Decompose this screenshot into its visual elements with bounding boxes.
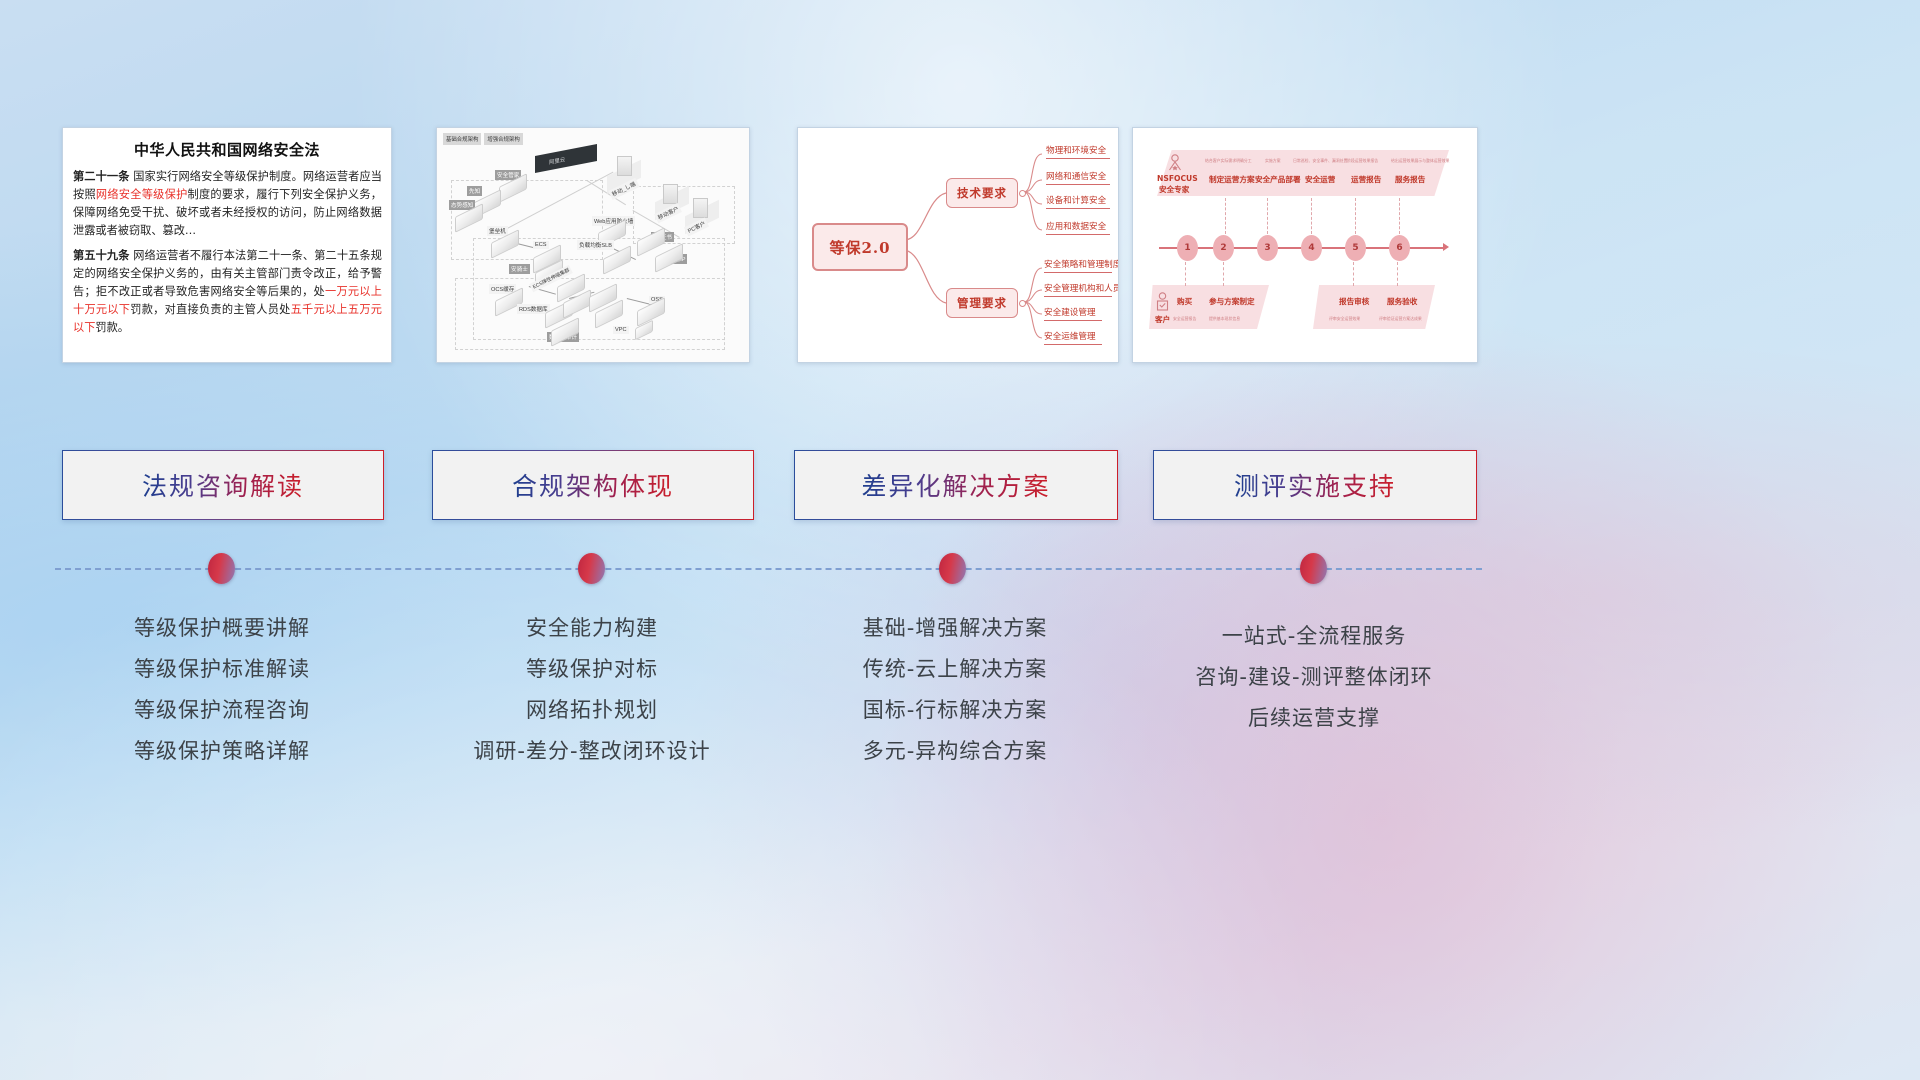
mindmap-diagram: 等保2.0 技术要求 物理和环境安全 网络和通信安全 设备和计算安全 应用和数据… xyxy=(798,128,1118,362)
mindmap-leaf: 安全运维管理 xyxy=(1044,330,1102,345)
law-body: 第二十一条 国家实行网络安全等级保护制度。网络运营者应当按照网络安全等级保护制度… xyxy=(63,168,391,337)
mindmap-leaf: 安全策略和管理制度 xyxy=(1044,258,1112,273)
law-article-21-highlight: 网络安全等级保护 xyxy=(96,188,188,201)
bullet-item: 传统-云上解决方案 xyxy=(794,649,1116,690)
tag-enhanced-architecture: 增强合规架构 xyxy=(484,133,522,145)
timeline-band-vendor xyxy=(1157,150,1449,196)
timeline-marker[interactable]: 6 xyxy=(1389,235,1410,261)
law-article-59-text-c: 罚款。 xyxy=(95,321,129,334)
law-article-59-number: 第五十九条 xyxy=(73,249,130,262)
law-article-59: 第五十九条 网络运营者不履行本法第二十一条、第二十五条规定的网络安全保护义务的，… xyxy=(73,247,382,338)
top-step-sub: 实施方案 xyxy=(1265,158,1281,164)
mindmap-branch-management: 管理要求 xyxy=(946,288,1018,318)
bottom-step-name: 报告审核 xyxy=(1339,296,1369,307)
bullet-item: 等级保护策略详解 xyxy=(62,731,382,772)
top-step-name: 制定运营方案 xyxy=(1209,174,1255,185)
bullet-column-1: 等级保护概要讲解 等级保护标准解读 等级保护流程咨询 等级保护策略详解 xyxy=(62,608,382,772)
section-label-4: 测评实施支持 xyxy=(1234,467,1396,503)
bottom-step-sub: 安全运营报告 xyxy=(1173,316,1196,322)
card-service-timeline: NSFOCUS 安全专家 结合客户实际需求明确分工 制定运营方案 实施方案 安全… xyxy=(1132,127,1478,363)
bullet-item: 调研-差分-整改闭环设计 xyxy=(432,731,752,772)
top-step-name: 安全产品部署 xyxy=(1255,174,1301,185)
node-label: 负载均衡SLB xyxy=(577,240,614,250)
mindmap-leaf: 安全管理机构和人员 xyxy=(1044,282,1112,297)
node-label: ECS xyxy=(533,241,549,249)
mindmap-collapse-dot[interactable] xyxy=(1019,300,1026,307)
timeline-marker[interactable]: 3 xyxy=(1257,235,1278,261)
bullet-item: 基础-增强解决方案 xyxy=(794,608,1116,649)
bottom-step-sub: 提供基本现状信息 xyxy=(1209,316,1240,322)
bullet-item: 多元-异构综合方案 xyxy=(794,731,1116,772)
customer-person-icon xyxy=(1155,292,1170,314)
law-article-21-number: 第二十一条 xyxy=(73,170,130,183)
mindmap-leaf: 物理和环境安全 xyxy=(1046,144,1110,159)
architecture-tag-bar: 基础合规架构 增强合规架构 xyxy=(443,133,523,145)
section-label-box-1[interactable]: 法规咨询解读 xyxy=(62,450,384,520)
bullet-column-4: 一站式-全流程服务 咨询-建设-测评整体闭环 后续运营支撑 xyxy=(1153,616,1475,739)
top-step-sub: 给出运营效果展示与整体运营效果 xyxy=(1391,158,1449,164)
mindmap-root: 等保2.0 xyxy=(812,223,908,271)
timeline-connector xyxy=(1185,262,1186,286)
timeline-diagram: NSFOCUS 安全专家 结合客户实际需求明确分工 制定运营方案 实施方案 安全… xyxy=(1133,128,1477,362)
card-dengbao-mindmap: 等保2.0 技术要求 物理和环境安全 网络和通信安全 设备和计算安全 应用和数据… xyxy=(797,127,1119,363)
tag-basic-architecture: 基础合规架构 xyxy=(443,133,481,145)
mindmap-branch-technical: 技术要求 xyxy=(946,178,1018,208)
timeline-connector xyxy=(1225,198,1226,234)
bullet-item: 等级保护概要讲解 xyxy=(62,608,382,649)
timeline-connector xyxy=(1267,198,1268,234)
timeline-connector xyxy=(1355,198,1356,234)
section-label-1: 法规咨询解读 xyxy=(142,467,304,503)
node-label: 安骑士 xyxy=(509,264,530,274)
bottom-step-name: 购买 xyxy=(1177,296,1192,307)
node-label: VPC xyxy=(613,326,629,334)
timeline-marker[interactable]: 4 xyxy=(1301,235,1322,261)
bottom-step-name: 服务验收 xyxy=(1387,296,1417,307)
customer-role: 客户 xyxy=(1155,314,1170,325)
timeline-connector xyxy=(1223,262,1224,286)
section-label-box-3[interactable]: 差异化解决方案 xyxy=(794,450,1118,520)
timeline-marker[interactable]: 5 xyxy=(1345,235,1366,261)
cloud-platform-banner: 阿里云 xyxy=(535,144,597,173)
node-label: 堡垒机 xyxy=(487,226,508,236)
mindmap-leaf: 设备和计算安全 xyxy=(1046,194,1110,209)
section-label-box-4[interactable]: 测评实施支持 xyxy=(1153,450,1477,520)
cloud-platform-label: 阿里云 xyxy=(549,155,565,166)
card-compliance-architecture: 基础合规架构 增强合规架构 阿里云 安全管家 xyxy=(436,127,750,363)
timeline-connector xyxy=(1311,198,1312,234)
section-label-box-2[interactable]: 合规架构体现 xyxy=(432,450,754,520)
mindmap-leaf: 安全建设管理 xyxy=(1044,306,1102,321)
bottom-step-name: 参与方案制定 xyxy=(1209,296,1255,307)
timeline-dot-1[interactable] xyxy=(208,553,235,584)
top-step-sub: 结合客户实际需求明确分工 xyxy=(1205,158,1252,164)
node-label: 先知 xyxy=(467,186,482,196)
timeline-dot-2[interactable] xyxy=(578,553,605,584)
timeline-connector xyxy=(1353,262,1354,286)
bottom-step-sub: 评审安全运营效果 xyxy=(1329,316,1360,322)
card-cybersecurity-law: 中华人民共和国网络安全法 第二十一条 国家实行网络安全等级保护制度。网络运营者应… xyxy=(62,127,392,363)
expert-person-icon xyxy=(1167,154,1183,172)
architecture-diagram: 基础合规架构 增强合规架构 阿里云 安全管家 xyxy=(437,128,749,362)
top-step-name: 服务报告 xyxy=(1395,174,1425,185)
timeline-dot-3[interactable] xyxy=(939,553,966,584)
section-label-2: 合规架构体现 xyxy=(512,467,674,503)
law-article-59-text-b: 罚款，对直接负责的主管人员处 xyxy=(130,303,290,316)
top-step-name: 安全运营 xyxy=(1305,174,1335,185)
top-step-sub: 日常巡检、安全事件、漏洞处置 xyxy=(1293,158,1347,164)
bottom-step-sub: 评审验证运营方案达成果 xyxy=(1379,316,1422,322)
top-step-name: 运营报告 xyxy=(1351,174,1381,185)
top-step-sub: 阶段运营效果报告 xyxy=(1347,158,1378,164)
timeline-marker[interactable]: 2 xyxy=(1213,235,1234,261)
timeline-arrow-icon xyxy=(1443,243,1449,251)
timeline-marker[interactable]: 1 xyxy=(1177,235,1198,261)
mindmap-leaf: 网络和通信安全 xyxy=(1046,170,1110,185)
timeline-band-customer-right xyxy=(1313,285,1435,329)
law-title: 中华人民共和国网络安全法 xyxy=(63,139,391,160)
bullet-item: 后续运营支撑 xyxy=(1153,698,1475,739)
bullet-item: 咨询-建设-测评整体闭环 xyxy=(1153,657,1475,698)
mindmap-leaf: 应用和数据安全 xyxy=(1046,220,1110,235)
bullet-item: 网络拓扑规划 xyxy=(432,690,752,731)
bullet-item: 等级保护对标 xyxy=(432,649,752,690)
bullet-column-3: 基础-增强解决方案 传统-云上解决方案 国标-行标解决方案 多元-异构综合方案 xyxy=(794,608,1116,772)
bullet-item: 安全能力构建 xyxy=(432,608,752,649)
bullet-column-2: 安全能力构建 等级保护对标 网络拓扑规划 调研-差分-整改闭环设计 xyxy=(432,608,752,772)
bullet-item: 一站式-全流程服务 xyxy=(1153,616,1475,657)
vendor-role: 安全专家 xyxy=(1159,184,1189,195)
timeline-dashed-line xyxy=(55,568,1482,570)
bullet-item: 等级保护流程咨询 xyxy=(62,690,382,731)
timeline-dot-4[interactable] xyxy=(1300,553,1327,584)
timeline-connector xyxy=(1399,198,1400,234)
vendor-name: NSFOCUS xyxy=(1157,174,1198,183)
timeline-connector xyxy=(1397,262,1398,286)
bullet-item: 国标-行标解决方案 xyxy=(794,690,1116,731)
section-label-3: 差异化解决方案 xyxy=(861,467,1050,503)
law-article-21: 第二十一条 国家实行网络安全等级保护制度。网络运营者应当按照网络安全等级保护制度… xyxy=(73,168,382,241)
bullet-item: 等级保护标准解读 xyxy=(62,649,382,690)
mindmap-collapse-dot[interactable] xyxy=(1019,190,1026,197)
slide-content: 中华人民共和国网络安全法 第二十一条 国家实行网络安全等级保护制度。网络运营者应… xyxy=(0,0,1920,1080)
